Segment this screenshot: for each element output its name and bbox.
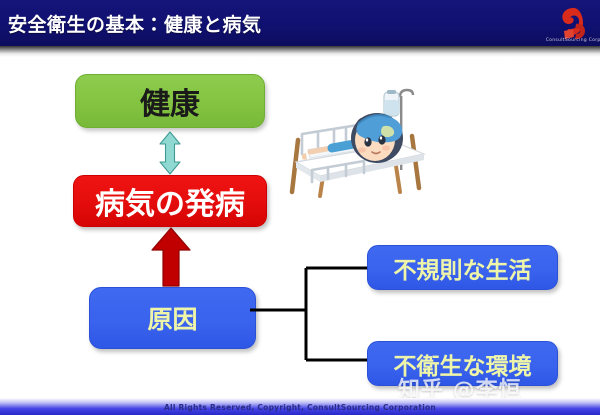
hospital-bed-patient-icon [272, 78, 444, 200]
node-health[interactable]: 健康 [75, 74, 265, 128]
arrow-up-icon [150, 226, 192, 288]
page-title: 安全衛生の基本：健康と病気 [8, 10, 262, 37]
bracket-connector-icon [250, 258, 376, 370]
slide-canvas: 安全衛生の基本：健康と病気 ConsultSourcing Corp. [0, 0, 600, 415]
node-illness[interactable]: 病気の発病 [73, 175, 267, 227]
double-headed-arrow-icon [158, 131, 182, 175]
footer-copyright: All Rights Reserved, Copyright, ConsultS… [0, 403, 600, 412]
logo-caption: ConsultSourcing Corp. [539, 37, 600, 42]
title-bar-shadow [0, 46, 600, 57]
node-unsanitary-environment[interactable]: 不衛生な環境 [367, 341, 558, 386]
node-irregular-life[interactable]: 不規則な生活 [367, 245, 558, 290]
node-cause[interactable]: 原因 [89, 287, 256, 349]
